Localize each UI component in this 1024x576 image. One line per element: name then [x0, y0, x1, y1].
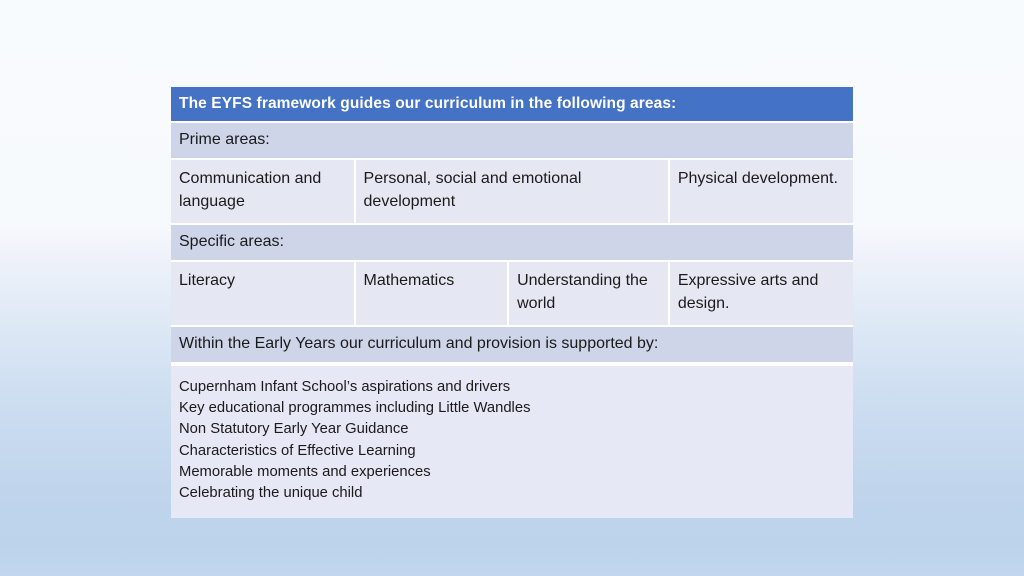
band-label-prime-areas: Prime areas: [171, 123, 853, 160]
cell-communication-and-language: Communication and language [171, 160, 356, 223]
cell-literacy: Literacy [171, 262, 356, 325]
band-label-supported-by: Within the Early Years our curriculum an… [171, 325, 853, 364]
support-list: Cupernham Infant School’s aspirations an… [179, 377, 845, 504]
cell-personal-social-emotional-development: Personal, social and emotional developme… [356, 160, 670, 223]
band-label-specific-areas: Specific areas: [171, 223, 853, 262]
table-header-row: The EYFS framework guides our curriculum… [171, 87, 853, 123]
support-list-cell: Cupernham Infant School’s aspirations an… [171, 364, 853, 518]
list-item: Non Statutory Early Year Guidance [179, 419, 845, 440]
band-row-prime-areas: Prime areas: [171, 123, 853, 160]
band-row-specific-areas: Specific areas: [171, 223, 853, 262]
cell-mathematics: Mathematics [356, 262, 510, 325]
list-item: Characteristics of Effective Learning [179, 441, 845, 462]
list-item: Celebrating the unique child [179, 483, 845, 504]
slide-canvas: The EYFS framework guides our curriculum… [0, 0, 1024, 576]
table-title: The EYFS framework guides our curriculum… [171, 87, 853, 123]
table-row-specific-areas: Literacy Mathematics Understanding the w… [171, 262, 853, 325]
cell-expressive-arts-and-design: Expressive arts and design. [670, 262, 853, 325]
list-item: Key educational programmes including Lit… [179, 398, 845, 419]
cell-physical-development: Physical development. [670, 160, 853, 223]
list-item: Memorable moments and experiences [179, 462, 845, 483]
list-item: Cupernham Infant School’s aspirations an… [179, 377, 845, 398]
table-row-support-list: Cupernham Infant School’s aspirations an… [171, 364, 853, 518]
cell-understanding-the-world: Understanding the world [509, 262, 670, 325]
table-row-prime-areas: Communication and language Personal, soc… [171, 160, 853, 223]
eyfs-curriculum-table: The EYFS framework guides our curriculum… [171, 87, 853, 518]
band-row-supported-by: Within the Early Years our curriculum an… [171, 325, 853, 364]
